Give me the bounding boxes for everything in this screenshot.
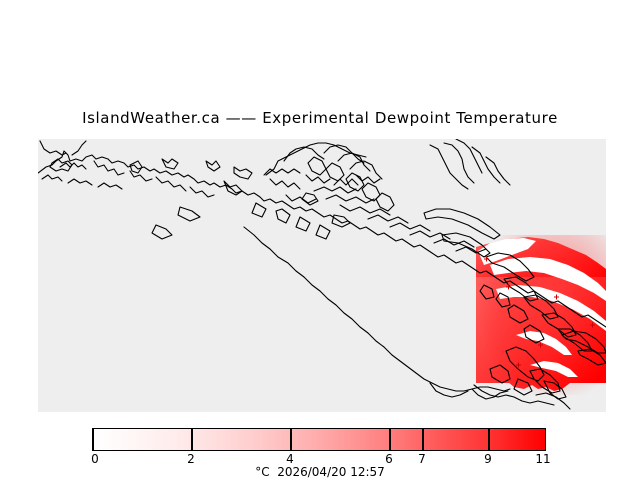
colorbar-label-2: 2 [187, 452, 195, 466]
colorbar-label-4: 4 [286, 452, 294, 466]
colorbar-label-11: 11 [535, 452, 550, 466]
colorbar-tick-0 [92, 428, 94, 451]
colorbar-tick-2 [191, 428, 193, 451]
colorbar-label-9: 9 [484, 452, 492, 466]
colorbar-tick-9 [488, 428, 490, 451]
weather-map-figure: IslandWeather.ca —— Experimental Dewpoin… [0, 0, 640, 480]
colorbar-gradient [92, 428, 546, 451]
page-title: IslandWeather.ca —— Experimental Dewpoin… [0, 109, 640, 127]
map-plot-area[interactable] [38, 139, 606, 412]
colorbar-label-6: 6 [385, 452, 393, 466]
colorbar-tick-6 [389, 428, 391, 451]
colorbar-label-0: 0 [91, 452, 99, 466]
colorbar-tick-4 [290, 428, 292, 451]
map-canvas [38, 139, 606, 412]
colorbar[interactable] [92, 428, 546, 451]
colorbar-tick-7 [422, 428, 424, 451]
colorbar-caption: °C 2026/04/20 12:57 [0, 465, 640, 479]
colorbar-label-7: 7 [418, 452, 426, 466]
colorbar-tick-11 [545, 428, 547, 451]
